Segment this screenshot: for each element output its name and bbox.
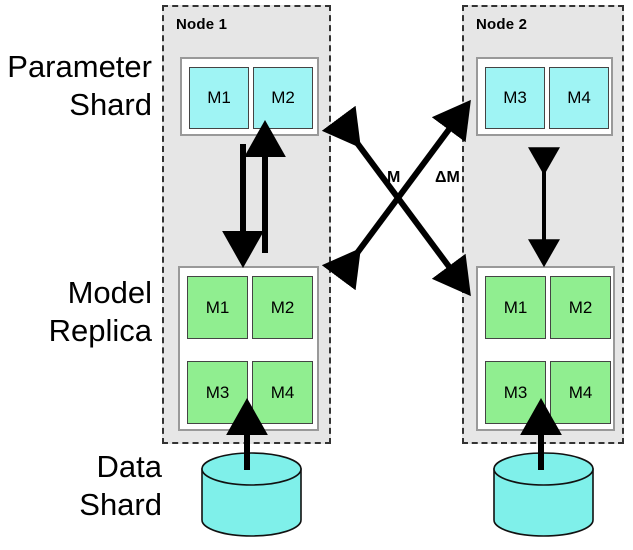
model-tile[interactable]: M1 [187, 276, 248, 339]
model-tile[interactable]: M2 [550, 276, 611, 339]
row-label-data-shard: Data Shard [0, 448, 162, 524]
cylinder-icon [200, 452, 303, 537]
parameter-tile[interactable]: M1 [189, 67, 249, 129]
model-replica-box-2: M1 M2 M3 M4 [476, 266, 615, 431]
row-label-model-replica: Model Replica [0, 274, 152, 350]
node-container-2: Node 2 M3 M4 M1 M2 M3 M4 [462, 5, 624, 444]
arrow-cross-link-b [343, 124, 453, 272]
model-tile[interactable]: M1 [485, 276, 546, 339]
model-tile[interactable]: M4 [252, 361, 313, 424]
parameter-shard-box-2: M3 M4 [476, 57, 613, 136]
node-title-1: Node 1 [176, 16, 227, 33]
data-shard-cylinder-2[interactable] [492, 452, 595, 537]
node-container-1: Node 1 M1 M2 M ΔM M1 M2 M3 M4 [162, 5, 331, 444]
parameter-tile[interactable]: M3 [485, 67, 545, 129]
row-label-parameter-shard: Parameter Shard [0, 48, 152, 124]
model-replica-box-1: M1 M2 M3 M4 [178, 266, 319, 431]
model-tile[interactable]: M3 [187, 361, 248, 424]
node-title-2: Node 2 [476, 16, 527, 33]
diagram-canvas: Parameter Shard Model Replica Data Shard… [0, 0, 633, 550]
model-tile[interactable]: M4 [550, 361, 611, 424]
parameter-tile[interactable]: M2 [253, 67, 313, 129]
arrow-cross-link-a [343, 124, 453, 272]
model-tile[interactable]: M2 [252, 276, 313, 339]
data-shard-cylinder-1[interactable] [200, 452, 303, 537]
model-tile[interactable]: M3 [485, 361, 546, 424]
flow-label-model-down: M [387, 169, 400, 187]
cylinder-icon [492, 452, 595, 537]
parameter-shard-box-1: M1 M2 [180, 57, 319, 136]
flow-label-gradient-up: ΔM [435, 169, 460, 187]
parameter-tile[interactable]: M4 [549, 67, 609, 129]
